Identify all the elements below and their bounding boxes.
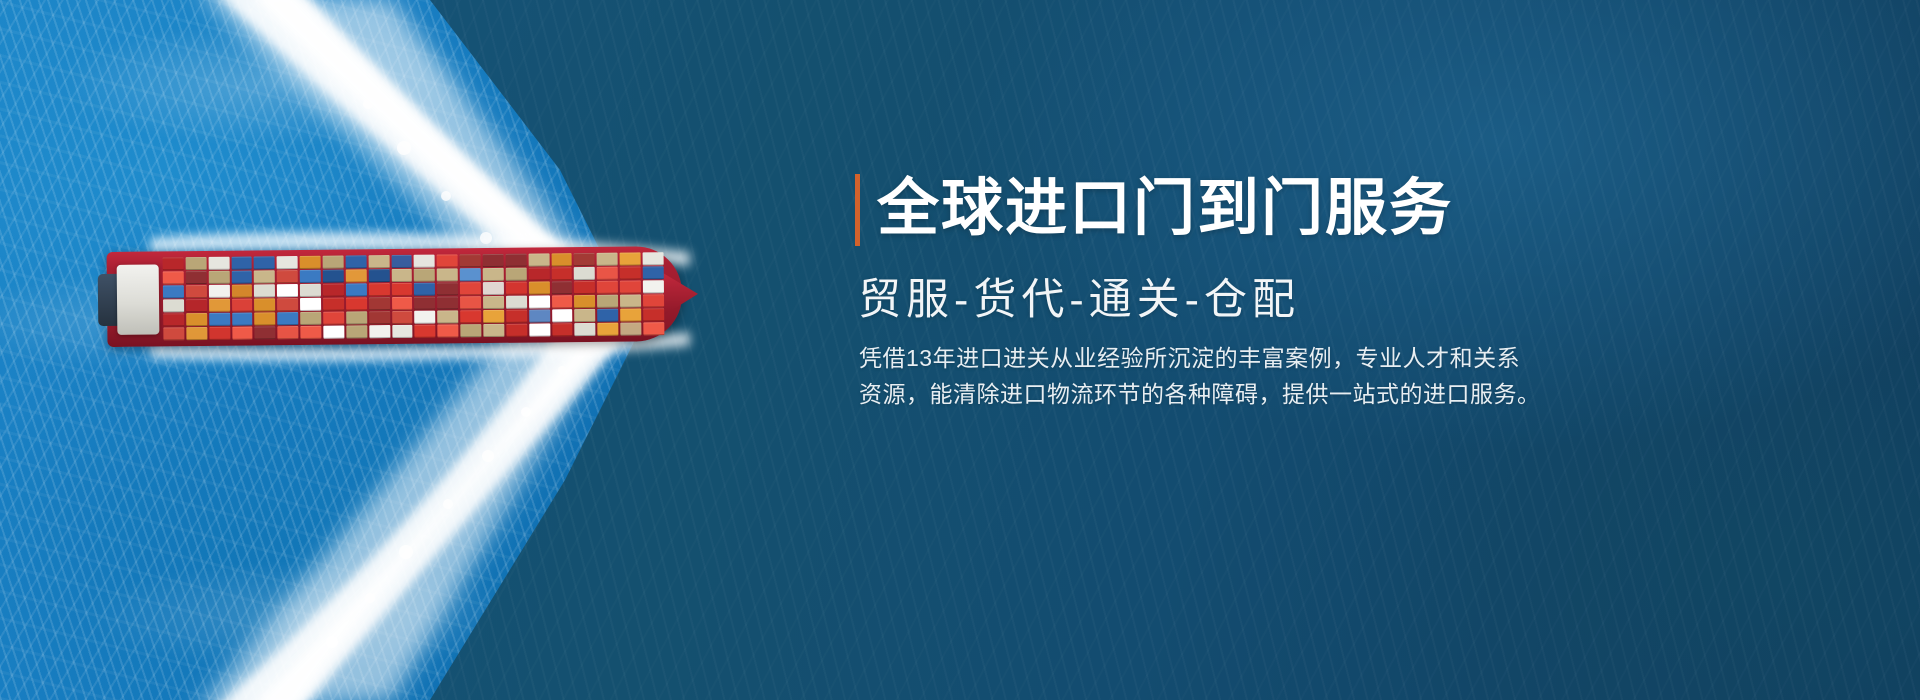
cargo-container bbox=[300, 298, 321, 311]
cargo-container bbox=[208, 257, 229, 270]
cargo-container bbox=[643, 280, 664, 293]
cargo-container bbox=[438, 324, 459, 337]
cargo-container bbox=[460, 254, 481, 267]
cargo-container bbox=[529, 281, 550, 294]
cargo-container bbox=[437, 254, 458, 267]
container-bay bbox=[208, 257, 230, 340]
container-bay bbox=[528, 253, 550, 336]
cargo-container bbox=[209, 285, 230, 298]
cargo-container bbox=[437, 310, 458, 323]
cargo-container bbox=[415, 311, 436, 324]
cargo-container bbox=[323, 298, 344, 311]
cargo-container bbox=[506, 282, 527, 295]
cargo-container bbox=[163, 313, 184, 326]
cargo-container bbox=[620, 308, 641, 321]
container-bay bbox=[185, 257, 207, 340]
cargo-container bbox=[300, 284, 321, 297]
cargo-container bbox=[163, 327, 184, 340]
cargo-container bbox=[437, 282, 458, 295]
container-bay bbox=[597, 253, 619, 336]
container-bay bbox=[483, 254, 505, 337]
cargo-container bbox=[254, 284, 275, 297]
cargo-container bbox=[506, 268, 527, 281]
cargo-container bbox=[368, 269, 389, 282]
cargo-container bbox=[231, 256, 252, 269]
cargo-container bbox=[643, 322, 664, 335]
cargo-container bbox=[345, 255, 366, 268]
cargo-container bbox=[620, 266, 641, 279]
cargo-container bbox=[414, 283, 435, 296]
cargo-container bbox=[392, 311, 413, 324]
container-bay bbox=[345, 255, 367, 338]
cargo-container bbox=[506, 296, 527, 309]
cargo-container bbox=[346, 325, 367, 338]
cargo-container bbox=[277, 270, 298, 283]
hero-banner: 全球进口门到门服务 贸服-货代-通关-仓配 凭借13年进口进关从业经验所沉淀的丰… bbox=[0, 0, 1920, 700]
cargo-container bbox=[163, 299, 184, 312]
cargo-container bbox=[323, 312, 344, 325]
container-bay bbox=[254, 256, 276, 339]
cargo-container bbox=[505, 254, 526, 267]
cargo-container bbox=[437, 296, 458, 309]
cargo-container bbox=[300, 326, 321, 339]
cargo-container bbox=[277, 284, 298, 297]
container-bay bbox=[505, 254, 527, 337]
cargo-container bbox=[414, 255, 435, 268]
cargo-container bbox=[346, 283, 367, 296]
hero-text-block: 全球进口门到门服务 贸服-货代-通关-仓配 凭借13年进口进关从业经验所沉淀的丰… bbox=[855, 0, 1855, 700]
container-bay bbox=[368, 255, 390, 338]
cargo-container bbox=[209, 299, 230, 312]
cargo-container bbox=[300, 270, 321, 283]
cargo-container bbox=[185, 257, 206, 270]
cargo-container bbox=[574, 253, 595, 266]
cargo-container bbox=[460, 282, 481, 295]
container-bay bbox=[163, 257, 185, 340]
cargo-container bbox=[552, 309, 573, 322]
cargo-container bbox=[460, 296, 481, 309]
cargo-container bbox=[323, 284, 344, 297]
cargo-container bbox=[437, 268, 458, 281]
container-bay bbox=[414, 255, 436, 338]
cargo-container bbox=[369, 283, 390, 296]
cargo-container bbox=[460, 268, 481, 281]
cargo-container bbox=[209, 327, 230, 340]
cargo-container bbox=[368, 255, 389, 268]
cargo-container bbox=[391, 269, 412, 282]
cargo-container bbox=[300, 256, 321, 269]
cargo-container bbox=[277, 298, 298, 311]
cargo-container bbox=[528, 253, 549, 266]
page-subtitle: 贸服-货代-通关-仓配 bbox=[858, 272, 1300, 328]
cargo-container bbox=[620, 294, 641, 307]
cargo-container bbox=[163, 271, 184, 284]
hero-photo bbox=[0, 0, 900, 700]
page-title: 全球进口门到门服务 bbox=[860, 172, 1453, 246]
cargo-container bbox=[597, 281, 618, 294]
container-ship bbox=[107, 246, 683, 347]
cargo-container bbox=[232, 312, 253, 325]
container-bay bbox=[391, 255, 413, 338]
cargo-container bbox=[620, 280, 641, 293]
cargo-container bbox=[209, 313, 230, 326]
container-bay bbox=[643, 252, 665, 335]
cargo-container bbox=[574, 267, 595, 280]
cargo-container bbox=[597, 267, 618, 280]
cargo-container bbox=[575, 323, 596, 336]
container-bay bbox=[323, 256, 345, 339]
cargo-container bbox=[597, 309, 618, 322]
container-bay bbox=[300, 256, 322, 339]
description-line-2: 资源，能清除进口物流环节的各种障碍，提供一站式的进口服务。 bbox=[859, 376, 1559, 412]
cargo-container bbox=[254, 270, 275, 283]
cargo-container bbox=[231, 270, 252, 283]
cargo-container bbox=[643, 266, 664, 279]
cargo-container bbox=[506, 324, 527, 337]
cargo-container bbox=[323, 326, 344, 339]
cargo-container bbox=[597, 253, 618, 266]
cargo-container bbox=[392, 297, 413, 310]
cargo-container bbox=[369, 311, 390, 324]
cargo-container bbox=[597, 295, 618, 308]
cargo-container bbox=[369, 297, 390, 310]
cargo-container bbox=[643, 252, 664, 265]
cargo-container bbox=[186, 271, 207, 284]
cargo-container bbox=[529, 323, 550, 336]
cargo-container bbox=[460, 310, 481, 323]
cargo-container bbox=[552, 323, 573, 336]
cargo-container bbox=[255, 312, 276, 325]
cargo-container bbox=[231, 284, 252, 297]
cargo-container bbox=[483, 296, 504, 309]
cargo-container bbox=[551, 281, 572, 294]
cargo-container bbox=[186, 313, 207, 326]
cargo-container bbox=[346, 269, 367, 282]
cargo-container bbox=[483, 282, 504, 295]
ocean-water-bright bbox=[0, 0, 900, 700]
cargo-container bbox=[186, 327, 207, 340]
cargo-container bbox=[232, 326, 253, 339]
cargo-container bbox=[232, 298, 253, 311]
cargo-container bbox=[414, 269, 435, 282]
container-bay bbox=[551, 253, 573, 336]
container-bay bbox=[231, 256, 253, 339]
container-bay bbox=[437, 254, 459, 337]
cargo-container bbox=[278, 326, 299, 339]
page-description: 凭借13年进口进关从业经验所沉淀的丰富案例，专业人才和关系 资源，能清除进口物流… bbox=[859, 340, 1559, 412]
cargo-container bbox=[483, 324, 504, 337]
cargo-container bbox=[574, 295, 595, 308]
cargo-container bbox=[323, 256, 344, 269]
cargo-container bbox=[483, 268, 504, 281]
cargo-container bbox=[529, 309, 550, 322]
cargo-container bbox=[300, 312, 321, 325]
cargo-container bbox=[415, 325, 436, 338]
cargo-container bbox=[506, 310, 527, 323]
cargo-container bbox=[643, 308, 664, 321]
cargo-container bbox=[575, 309, 596, 322]
cargo-container bbox=[620, 322, 641, 335]
ship-bridge bbox=[117, 264, 160, 334]
cargo-container bbox=[346, 311, 367, 324]
cargo-container bbox=[163, 285, 184, 298]
cargo-container bbox=[163, 257, 184, 270]
cargo-container bbox=[598, 323, 619, 336]
cargo-container bbox=[369, 325, 390, 338]
cargo-container bbox=[277, 312, 298, 325]
cargo-container bbox=[254, 298, 275, 311]
cargo-container bbox=[414, 297, 435, 310]
container-deck bbox=[163, 252, 665, 340]
cargo-container bbox=[551, 267, 572, 280]
container-bay bbox=[620, 252, 642, 335]
cargo-container bbox=[254, 256, 275, 269]
cargo-container bbox=[620, 252, 641, 265]
cargo-container bbox=[460, 324, 481, 337]
cargo-container bbox=[255, 326, 276, 339]
cargo-container bbox=[529, 295, 550, 308]
cargo-container bbox=[186, 285, 207, 298]
cargo-container bbox=[528, 267, 549, 280]
cargo-container bbox=[323, 270, 344, 283]
description-line-1: 凭借13年进口进关从业经验所沉淀的丰富案例，专业人才和关系 bbox=[859, 340, 1559, 376]
cargo-container bbox=[186, 299, 207, 312]
cargo-container bbox=[483, 310, 504, 323]
cargo-container bbox=[391, 255, 412, 268]
cargo-container bbox=[208, 271, 229, 284]
container-bay bbox=[460, 254, 482, 337]
cargo-container bbox=[392, 325, 413, 338]
cargo-container bbox=[551, 253, 572, 266]
headline-row: 全球进口门到门服务 bbox=[855, 172, 1453, 246]
cargo-container bbox=[574, 281, 595, 294]
cargo-container bbox=[483, 254, 504, 267]
container-bay bbox=[574, 253, 596, 336]
container-bay bbox=[277, 256, 299, 339]
cargo-container bbox=[346, 297, 367, 310]
cargo-container bbox=[552, 295, 573, 308]
cargo-container bbox=[391, 283, 412, 296]
cargo-container bbox=[277, 256, 298, 269]
cargo-container bbox=[643, 294, 664, 307]
